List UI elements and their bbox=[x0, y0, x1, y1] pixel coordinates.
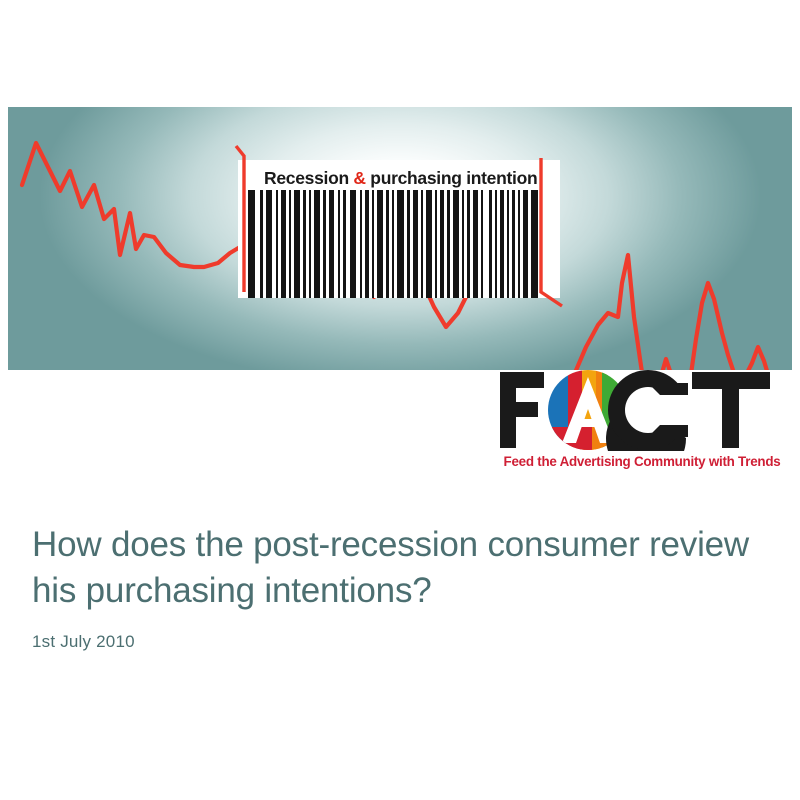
barcode-edge-lines bbox=[230, 146, 570, 306]
barcode-edge-line-left bbox=[236, 146, 244, 292]
fact-logo: Feed the Advertising Community with Tren… bbox=[492, 369, 792, 481]
fact-wordmark bbox=[492, 369, 792, 451]
page-title: How does the post-recession consumer rev… bbox=[32, 522, 762, 614]
title-block: How does the post-recession consumer rev… bbox=[32, 522, 762, 652]
logo-letter-f bbox=[500, 372, 544, 448]
page-date: 1st July 2010 bbox=[32, 632, 762, 652]
barcode-edge-line-right bbox=[541, 158, 562, 306]
trendline-right bbox=[564, 255, 792, 370]
barcode: Recession & purchasing intention bbox=[238, 160, 560, 298]
fact-logo-tagline: Feed the Advertising Community with Tren… bbox=[492, 454, 792, 469]
fact-logo-mark bbox=[492, 369, 792, 451]
logo-letter-t bbox=[692, 372, 770, 448]
logo-letter-c bbox=[606, 370, 692, 451]
